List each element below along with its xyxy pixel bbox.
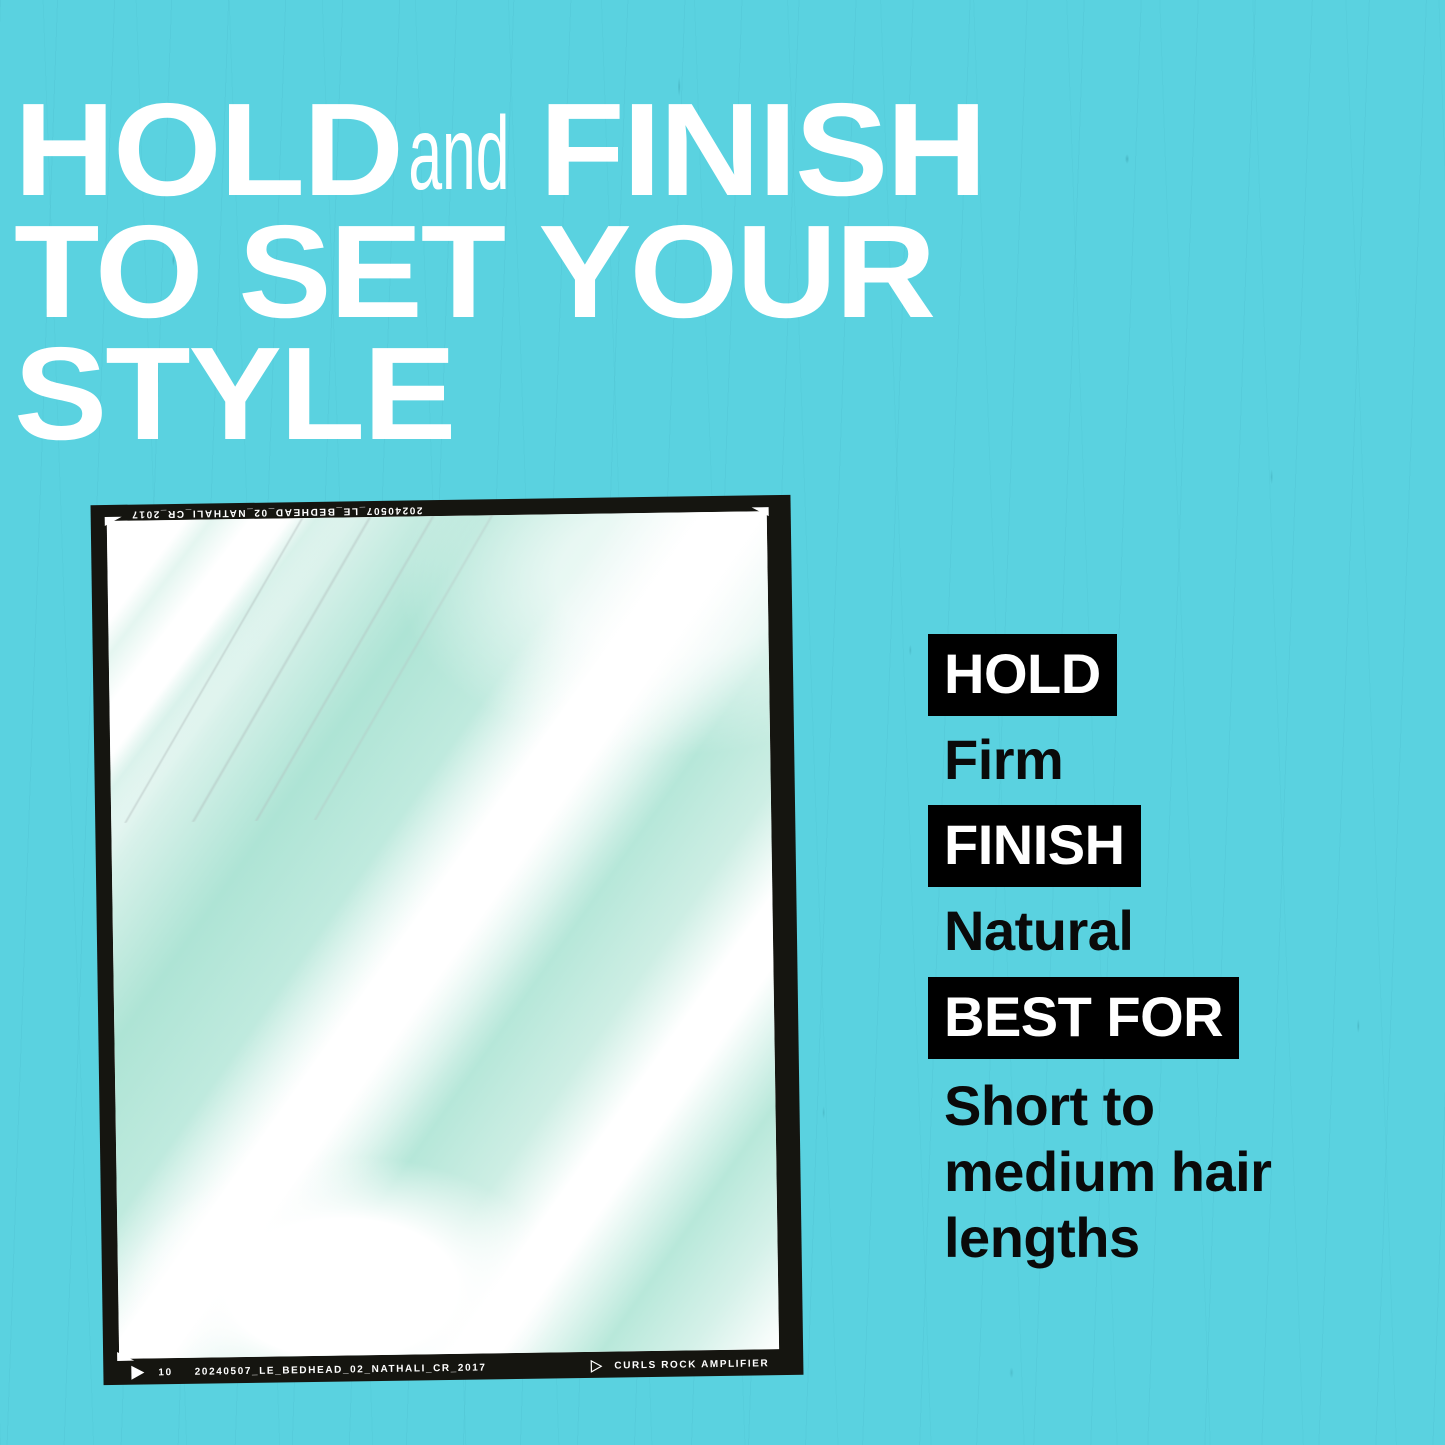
product-infographic-poster: HOLDandFINISH TO SET YOUR STYLE 20240507… — [0, 0, 1445, 1445]
headline-line-3: STYLE — [14, 336, 1434, 452]
spec-value-best-for: Short to medium hair lengths — [928, 1073, 1364, 1271]
film-frame-border — [91, 495, 804, 1385]
play-triangle-outline-icon — [590, 1359, 602, 1372]
film-strip-product: CURLS ROCK AMPLIFIER — [590, 1357, 769, 1373]
spec-label-best-for: BEST FOR — [928, 977, 1239, 1059]
spec-label-finish: FINISH — [928, 805, 1141, 887]
film-strip-product-name: CURLS ROCK AMPLIFIER — [614, 1358, 769, 1371]
headline-word-and: and — [408, 109, 509, 201]
headline-line-1: HOLDandFINISH — [14, 92, 1434, 208]
product-photo-frame: 20240507_LE_BEDHEAD_02_NATHALI_CR_2017 1… — [91, 495, 804, 1385]
spec-label-hold: HOLD — [928, 634, 1117, 716]
headline-line-2: TO SET YOUR — [14, 214, 1434, 330]
film-strip-filename: 20240507_LE_BEDHEAD_02_NATHALI_CR_2017 — [195, 1362, 487, 1377]
product-spec-list: HOLD Firm FINISH Natural BEST FOR Short … — [928, 634, 1368, 1287]
frame-corner-marker-bottom-left — [117, 1352, 134, 1361]
spec-value-hold: Firm — [928, 730, 1368, 789]
film-strip-spacer — [487, 1366, 591, 1368]
frame-corner-marker-top-left — [105, 517, 122, 526]
spec-row-hold: HOLD Firm — [928, 634, 1368, 789]
spec-row-best-for: BEST FOR Short to medium hair lengths — [928, 977, 1368, 1271]
spec-row-finish: FINISH Natural — [928, 805, 1368, 960]
hair-strands-overlay — [107, 511, 771, 822]
play-triangle-icon — [131, 1366, 144, 1380]
spec-value-finish: Natural — [928, 901, 1368, 960]
headline: HOLDandFINISH TO SET YOUR STYLE — [14, 92, 1354, 452]
frame-corner-marker-top-right — [752, 507, 769, 516]
film-strip-top-filename: 20240507_LE_BEDHEAD_02_NATHALI_CR_2017 — [131, 505, 423, 520]
product-photo — [107, 511, 779, 1359]
film-frame-number: 10 — [158, 1367, 172, 1378]
